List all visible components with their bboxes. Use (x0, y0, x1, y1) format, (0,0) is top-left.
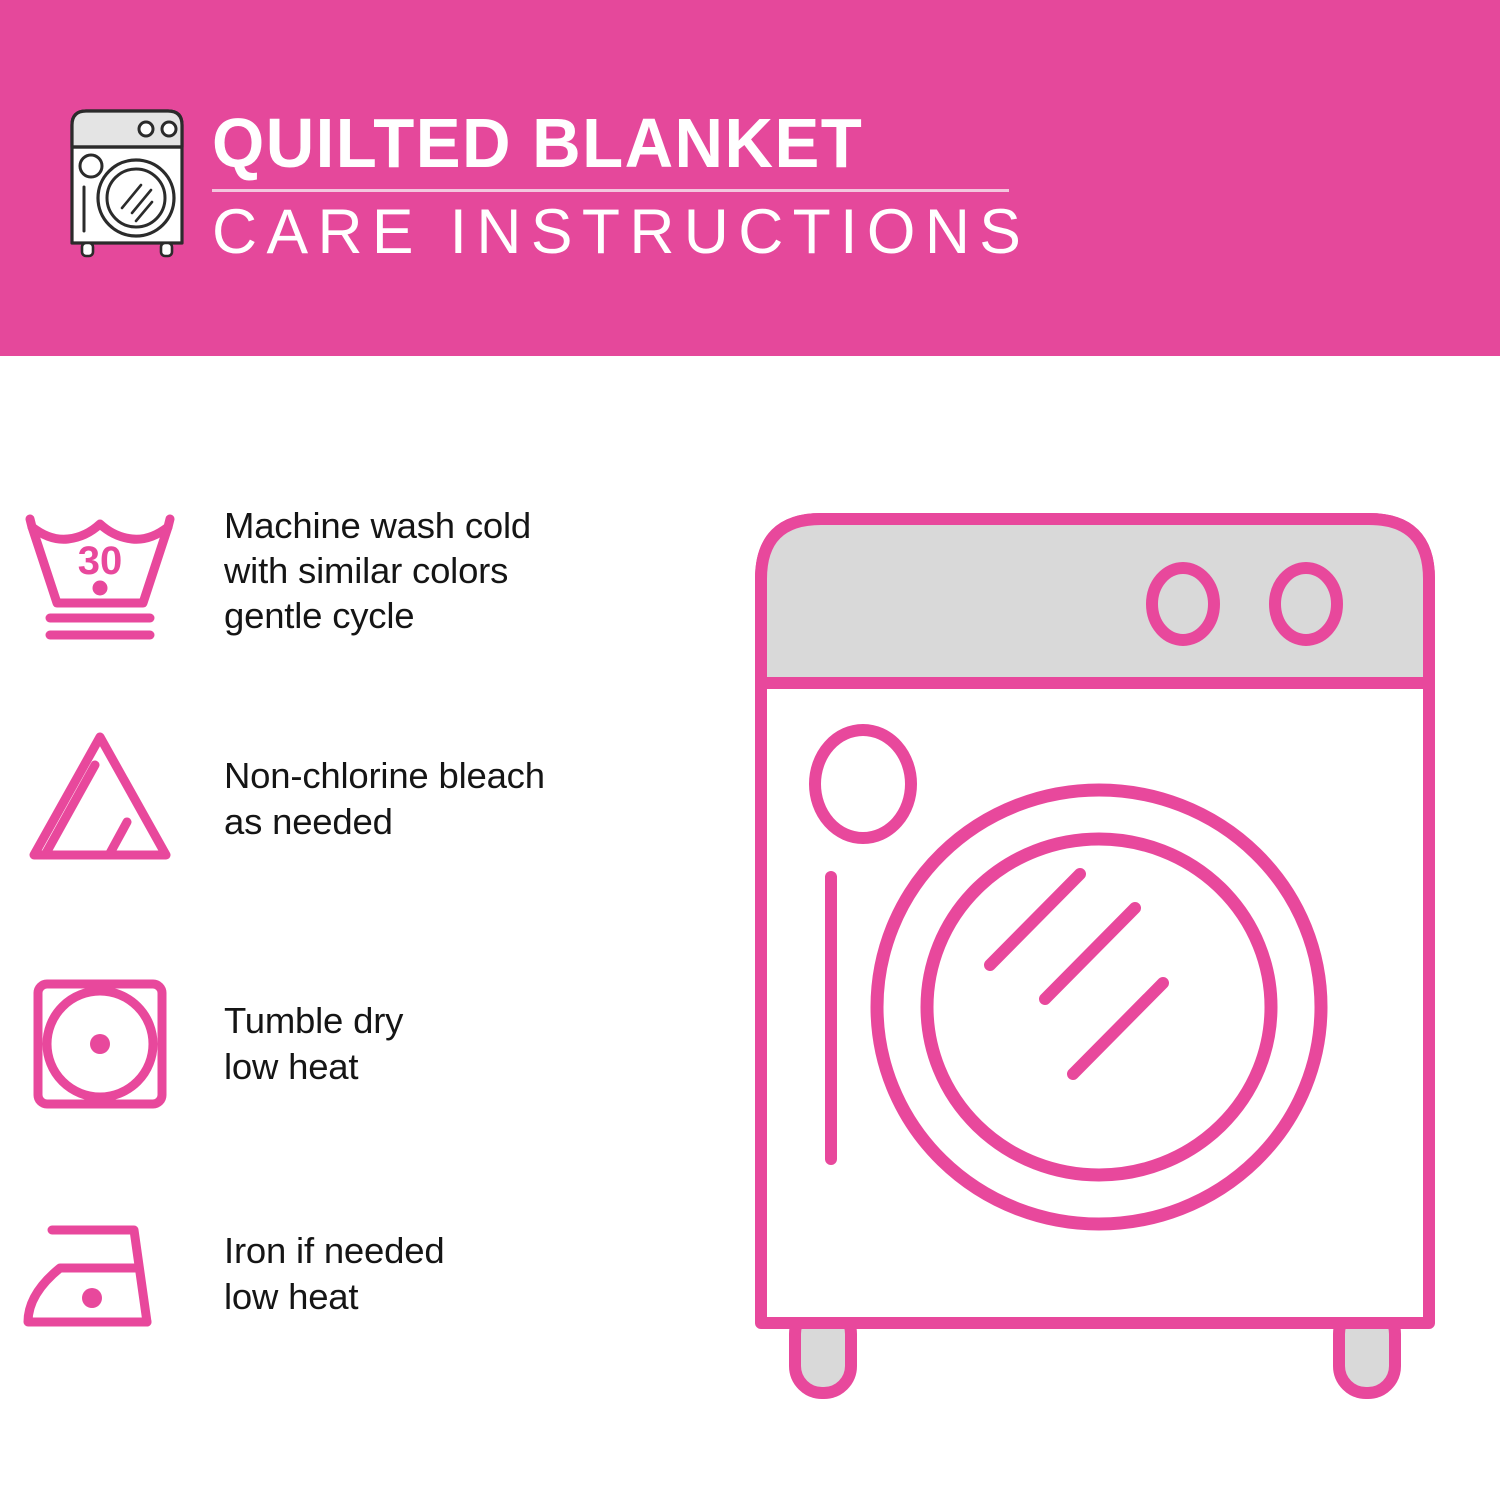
care-row-iron: Iron if needed low heat (0, 1181, 740, 1366)
care-line: Tumble dry (224, 998, 403, 1043)
non-chlorine-bleach-triangle-icon (0, 706, 200, 891)
page-title: QUILTED BLANKET (212, 108, 990, 178)
care-line: gentle cycle (224, 593, 531, 638)
care-label-iron: Iron if needed low heat (200, 1228, 444, 1319)
care-row-machine-wash: 30 Machine wash cold with similar colors… (0, 478, 740, 663)
page-subtitle: CARE INSTRUCTIONS (212, 201, 1014, 264)
care-row-bleach: Non-chlorine bleach as needed (0, 706, 740, 891)
care-line: Iron if needed (224, 1228, 444, 1273)
header-text-block: QUILTED BLANKET CARE INSTRUCTIONS (212, 108, 1022, 264)
care-line: low heat (224, 1274, 444, 1319)
care-line: with similar colors (224, 548, 531, 593)
care-label-bleach: Non-chlorine bleach as needed (200, 753, 545, 844)
care-line: low heat (224, 1044, 403, 1089)
title-divider (212, 189, 1009, 192)
washing-machine-illustration (735, 487, 1455, 1427)
header-banner: QUILTED BLANKET CARE INSTRUCTIONS (0, 0, 1500, 356)
wash-tub-30-icon: 30 (0, 478, 200, 663)
wash-temperature-value: 30 (78, 539, 123, 583)
care-label-machine-wash: Machine wash cold with similar colors ge… (200, 503, 531, 639)
care-instructions-infographic: QUILTED BLANKET CARE INSTRUCTIONS (0, 0, 1500, 1500)
care-instruction-list: 30 Machine wash cold with similar colors… (0, 356, 740, 1500)
care-row-tumble-dry: Tumble dry low heat (0, 951, 740, 1136)
care-line: as needed (224, 799, 545, 844)
washing-machine-icon (62, 103, 192, 258)
iron-low-heat-icon (0, 1181, 200, 1366)
care-label-tumble-dry: Tumble dry low heat (200, 998, 403, 1089)
tumble-dry-low-icon (0, 951, 200, 1136)
care-line: Machine wash cold (224, 503, 531, 548)
care-line: Non-chlorine bleach (224, 753, 545, 798)
